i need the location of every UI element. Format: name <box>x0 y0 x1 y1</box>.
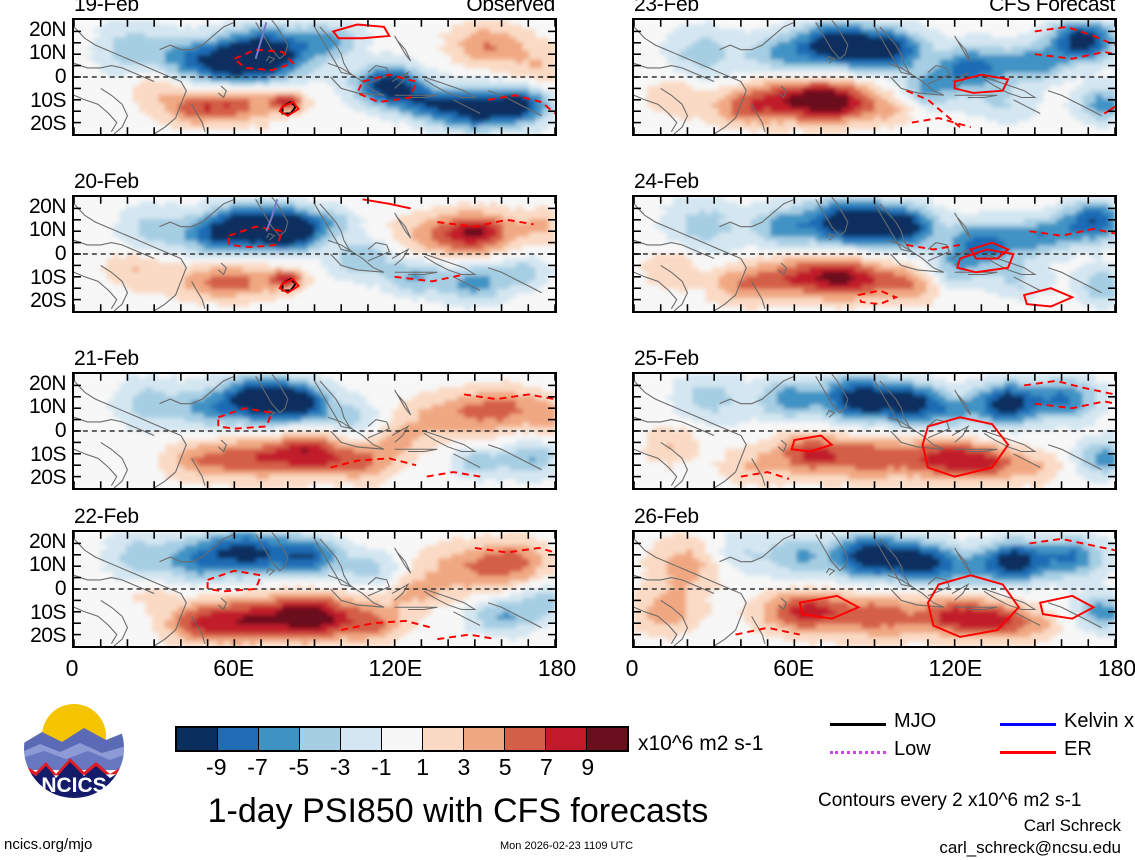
map-panel-24-feb: 24-Feb <box>632 195 1117 313</box>
x-tick-label: 0 <box>626 655 639 682</box>
panel-plot-area <box>632 530 1117 648</box>
colorbar-tick-label: -1 <box>371 754 391 781</box>
panel-plot-area <box>72 530 557 648</box>
panel-date-label: 20-Feb <box>74 170 139 194</box>
colorbar-segment-5 <box>382 728 423 750</box>
colorbar-segment-9 <box>546 728 587 750</box>
y-tick-label: 20N <box>29 530 66 554</box>
author-name: Carl Schreck <box>1024 816 1121 836</box>
panel-date-label: 19-Feb <box>74 0 139 17</box>
panel-plot-area <box>72 372 557 490</box>
colorbar-segment-2 <box>259 728 300 750</box>
y-tick-label: 10N <box>29 218 66 242</box>
y-tick-label: 20N <box>29 18 66 42</box>
colorbar-tick-label: 7 <box>540 754 553 781</box>
y-axis-labels: 20N10N010S20S <box>6 372 72 490</box>
colorbar-tick-label: 9 <box>581 754 594 781</box>
map-panel-23-feb: 23-FebCFS Forecast <box>632 18 1117 136</box>
panel-plot-area <box>632 372 1117 490</box>
site-url: ncics.org/mjo <box>4 836 92 853</box>
contour-interval-note: Contours every 2 x10^6 m2 s-1 <box>818 790 1081 812</box>
y-tick-label: 10N <box>29 395 66 419</box>
y-axis-labels: 20N10N010S20S <box>6 530 72 648</box>
y-tick-label: 10S <box>30 443 66 467</box>
panel-column-header: CFS Forecast <box>989 0 1115 17</box>
colorbar-segment-3 <box>300 728 341 750</box>
colorbar-segment-4 <box>341 728 382 750</box>
page-title: 1-day PSI850 with CFS forecasts <box>148 792 768 831</box>
legend-label: ER <box>1064 738 1092 761</box>
legend-line-swatch <box>830 723 886 726</box>
y-axis-labels: 20N10N010S20S <box>6 18 72 136</box>
y-tick-label: 10S <box>30 89 66 113</box>
colorbar-swatches <box>175 726 629 752</box>
y-tick-label: 0 <box>55 419 66 443</box>
colorbar-tick-label: -3 <box>330 754 350 781</box>
y-tick-label: 20S <box>30 112 66 136</box>
y-tick-label: 10N <box>29 553 66 577</box>
y-tick-label: 20N <box>29 195 66 219</box>
x-tick-label: 180 <box>538 655 576 682</box>
map-panel-22-feb: 22-Feb 20N10N010S20S060E120E180 <box>72 530 557 648</box>
panel-date-label: 25-Feb <box>634 347 699 371</box>
colorbar-segment-0 <box>177 728 218 750</box>
panel-plot-area <box>632 195 1117 313</box>
x-axis-labels: 060E120E180 <box>632 648 1117 682</box>
map-panel-21-feb: 21-Feb 20N10N010S20S <box>72 372 557 490</box>
panel-plot-area <box>72 195 557 313</box>
timestamp: Mon 2026-02-23 1109 UTC <box>500 840 633 852</box>
colorbar-segment-7 <box>464 728 505 750</box>
y-tick-label: 0 <box>55 577 66 601</box>
map-panel-26-feb: 26-Feb 060E120E180 <box>632 530 1117 648</box>
logo-text: NCICS <box>41 774 106 797</box>
panel-date-label: 21-Feb <box>74 347 139 371</box>
panel-plot-area <box>72 18 557 136</box>
legend-label: MJO <box>894 710 936 733</box>
colorbar-tick-label: -5 <box>289 754 309 781</box>
colorbar-segment-8 <box>505 728 546 750</box>
ncics-logo: NCICS <box>22 696 126 800</box>
panel-grid: 19-FebObserved 20N10N010S20S20-Feb 20N10… <box>0 0 1135 690</box>
map-panel-25-feb: 25-Feb <box>632 372 1117 490</box>
y-tick-label: 10N <box>29 41 66 65</box>
panel-plot-area <box>632 18 1117 136</box>
panel-date-label: 23-Feb <box>634 0 699 17</box>
y-tick-label: 20N <box>29 372 66 396</box>
panel-column-header: Observed <box>466 0 555 17</box>
panel-date-label: 24-Feb <box>634 170 699 194</box>
colorbar-segment-1 <box>218 728 259 750</box>
colorbar-tick-label: -9 <box>206 754 226 781</box>
x-tick-label: 0 <box>66 655 79 682</box>
legend: MJOKelvin x2LowER <box>830 712 1130 768</box>
map-panel-20-feb: 20-Feb 20N10N010S20S <box>72 195 557 313</box>
legend-label: Low <box>894 738 931 761</box>
colorbar-tick-label: 3 <box>458 754 471 781</box>
y-tick-label: 0 <box>55 65 66 89</box>
y-tick-label: 10S <box>30 266 66 290</box>
y-tick-label: 20S <box>30 289 66 313</box>
legend-label: Kelvin x2 <box>1064 710 1135 733</box>
colorbar-units-label: x10^6 m2 s-1 <box>638 732 763 756</box>
y-tick-label: 0 <box>55 242 66 266</box>
panel-date-label: 22-Feb <box>74 505 139 529</box>
colorbar: -9-7-5-3-113579 <box>175 726 629 752</box>
x-tick-label: 120E <box>928 655 982 682</box>
legend-line-swatch <box>1000 751 1056 754</box>
colorbar-tick-label: -7 <box>247 754 267 781</box>
y-tick-label: 10S <box>30 601 66 625</box>
x-axis-labels: 060E120E180 <box>72 648 557 682</box>
legend-line-swatch <box>830 751 886 754</box>
y-tick-label: 20S <box>30 624 66 648</box>
panel-date-label: 26-Feb <box>634 505 699 529</box>
x-tick-label: 60E <box>773 655 814 682</box>
x-tick-label: 120E <box>368 655 422 682</box>
y-axis-labels: 20N10N010S20S <box>6 195 72 313</box>
author-email: carl_schreck@ncsu.edu <box>939 838 1121 858</box>
map-panel-19-feb: 19-FebObserved 20N10N010S20S <box>72 18 557 136</box>
colorbar-tick-labels: -9-7-5-3-113579 <box>175 752 629 782</box>
colorbar-segment-10 <box>587 728 627 750</box>
colorbar-tick-label: 1 <box>416 754 429 781</box>
legend-line-swatch <box>1000 723 1056 726</box>
colorbar-segment-6 <box>423 728 464 750</box>
x-tick-label: 180 <box>1098 655 1135 682</box>
y-tick-label: 20S <box>30 466 66 490</box>
colorbar-tick-label: 5 <box>499 754 512 781</box>
x-tick-label: 60E <box>213 655 254 682</box>
